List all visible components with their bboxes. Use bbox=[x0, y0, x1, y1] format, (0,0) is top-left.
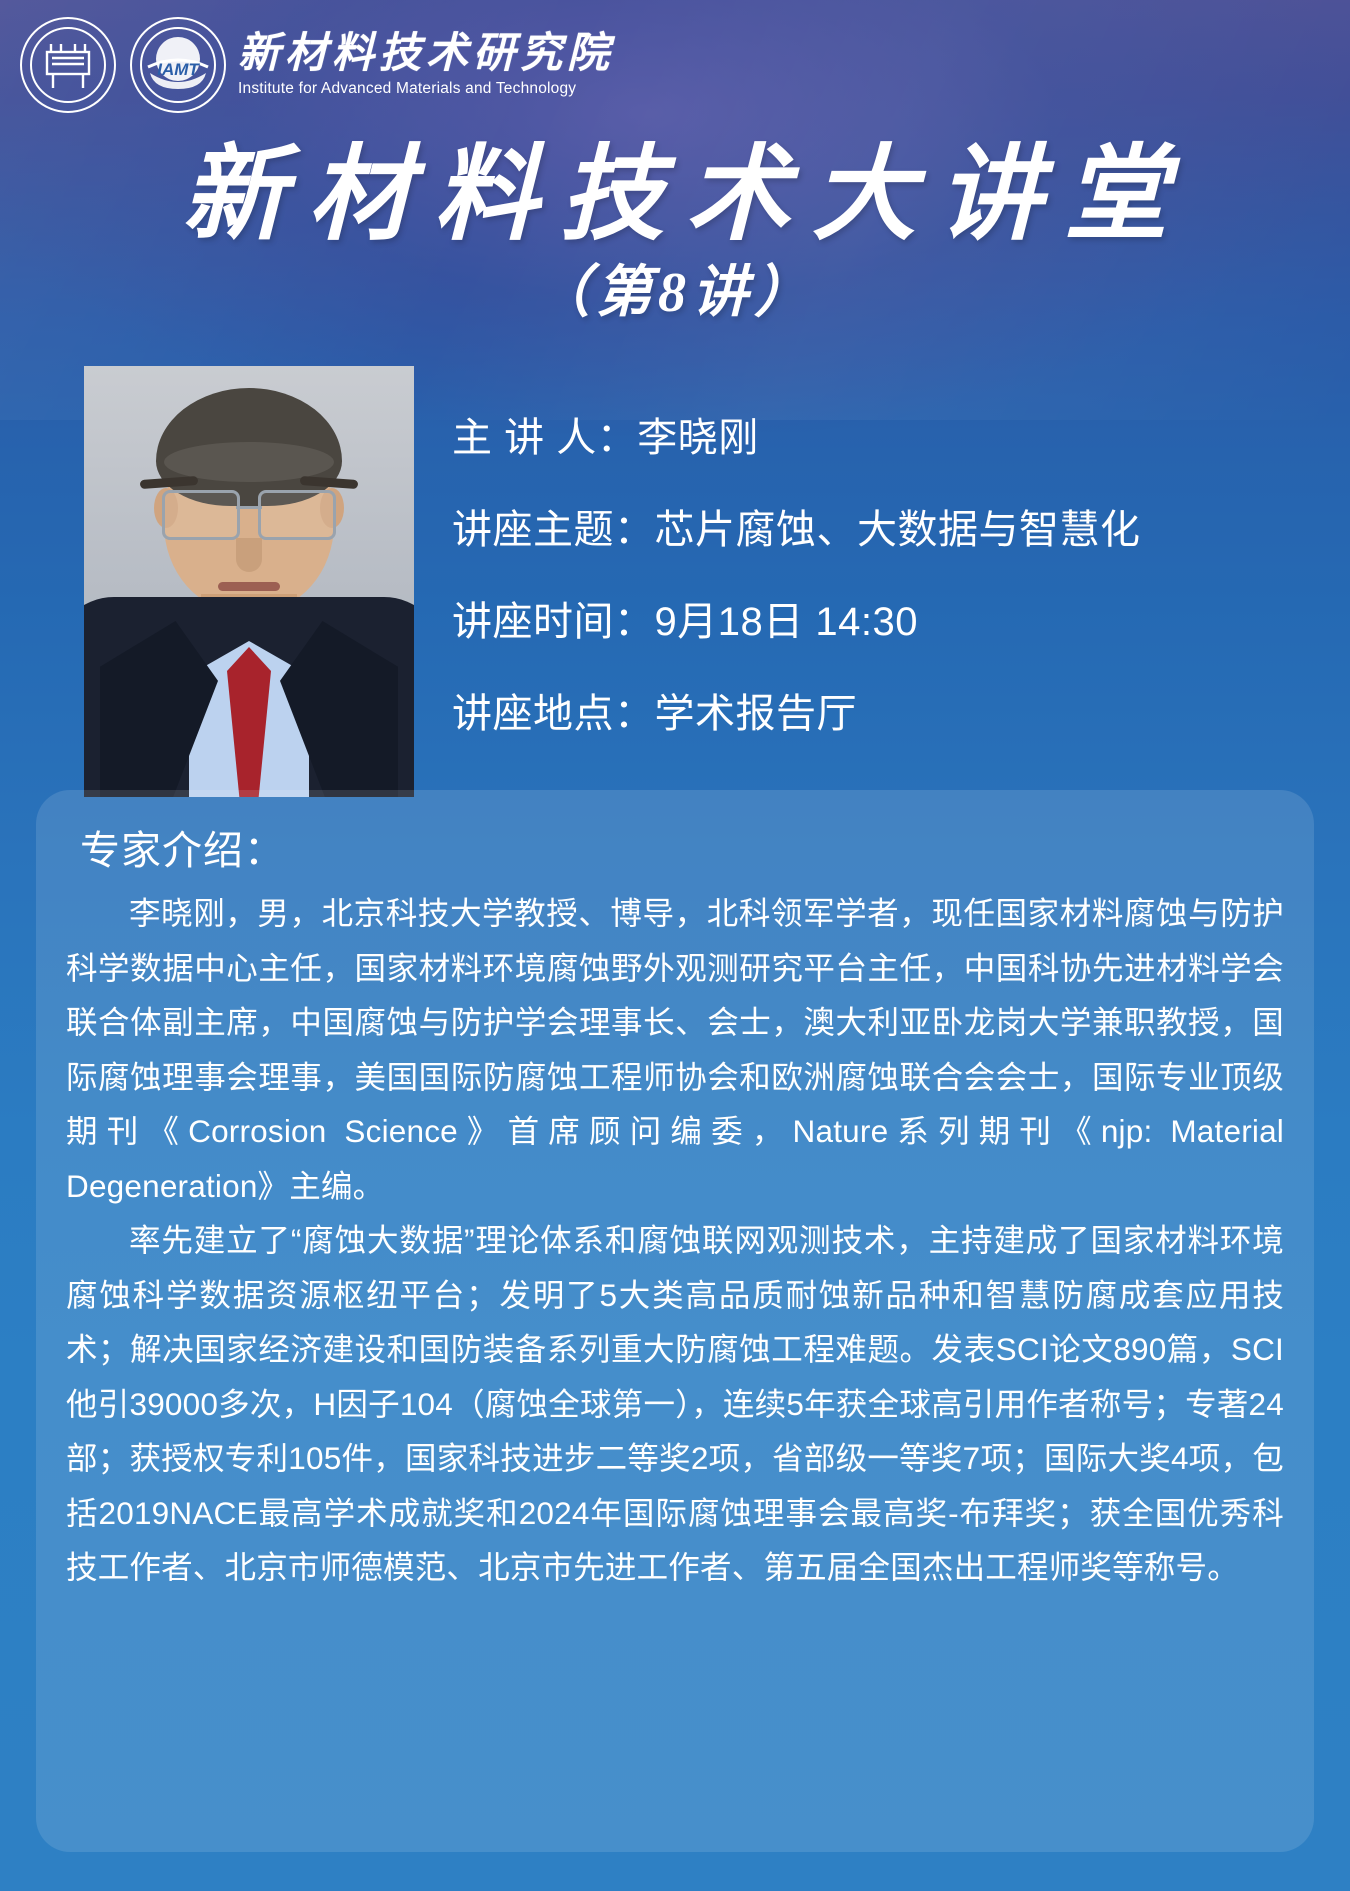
iamt-seal-icon: IAMT bbox=[130, 17, 226, 113]
bio-paragraph-2: 率先建立了“腐蚀大数据”理论体系和腐蚀联网观测技术，主持建成了国家材料环境腐蚀科… bbox=[66, 1213, 1284, 1595]
iamt-globe-icon: IAMT bbox=[130, 17, 226, 113]
portrait-nose bbox=[236, 538, 262, 572]
ustb-seal-icon bbox=[20, 17, 116, 113]
info-time: 讲座时间：9月18日 14:30 bbox=[452, 598, 1302, 646]
ding-vessel-icon bbox=[39, 38, 97, 92]
info-speaker: 主 讲 人：李晓刚 bbox=[452, 414, 1302, 462]
glasses-lens-right bbox=[258, 490, 336, 540]
page-title: 新材料技术大讲堂 bbox=[0, 140, 1350, 252]
info-place: 讲座地点：学术报告厅 bbox=[452, 690, 1302, 738]
title-block: 新材料技术大讲堂 （第8讲） bbox=[0, 140, 1350, 328]
glasses-lens-left bbox=[162, 490, 240, 540]
institute-name-cn: 新材料技术研究院 bbox=[238, 31, 614, 77]
speaker-portrait bbox=[84, 366, 414, 797]
bio-paragraph-1: 李晓刚，男，北京科技大学教授、博导，北科领军学者，现任国家材料腐蚀与防护科学数据… bbox=[66, 886, 1284, 1213]
lecture-info-block: 主 讲 人：李晓刚 讲座主题：芯片腐蚀、大数据与智慧化 讲座时间：9月18日 1… bbox=[452, 414, 1302, 738]
institute-name-block: 新材料技术研究院 Institute for Advanced Material… bbox=[238, 31, 614, 99]
expert-bio-card: 专家介绍： 李晓刚，男，北京科技大学教授、博导，北科领军学者，现任国家材料腐蚀与… bbox=[36, 790, 1314, 1852]
poster-header: IAMT 新材料技术研究院 Institute for Advanced Mat… bbox=[0, 0, 1350, 130]
portrait-mouth bbox=[218, 582, 280, 591]
glasses-bridge bbox=[236, 506, 262, 509]
institute-name-en: Institute for Advanced Materials and Tec… bbox=[238, 79, 614, 99]
svg-text:IAMT: IAMT bbox=[157, 60, 200, 79]
portrait-glasses bbox=[160, 490, 338, 536]
page-subtitle: （第8讲） bbox=[0, 258, 1350, 328]
poster-root: IAMT 新材料技术研究院 Institute for Advanced Mat… bbox=[0, 0, 1350, 1891]
info-topic: 讲座主题：芯片腐蚀、大数据与智慧化 bbox=[452, 506, 1302, 554]
bio-heading: 专家介绍： bbox=[80, 824, 1284, 878]
